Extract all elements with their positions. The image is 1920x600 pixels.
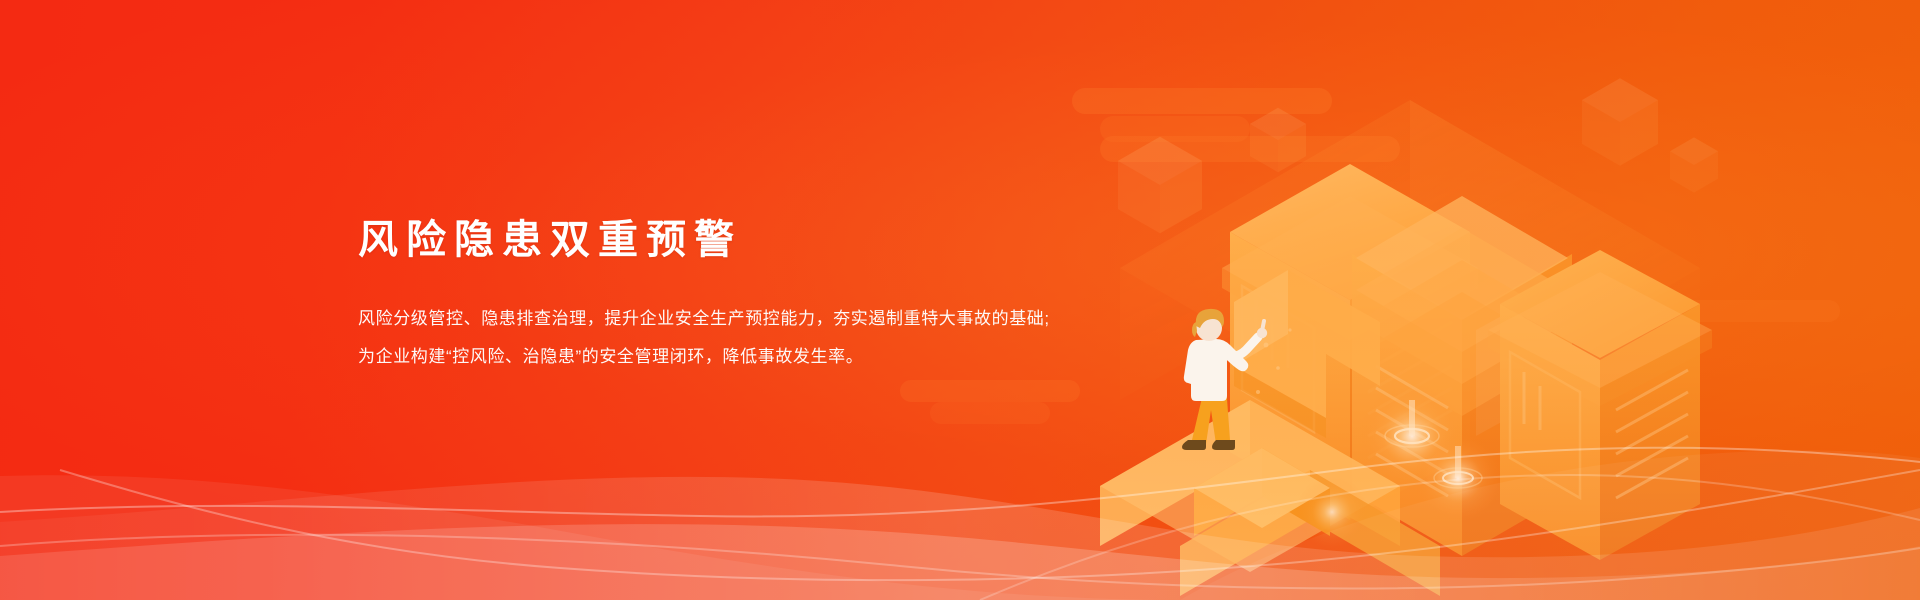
banner-text-block: 风险隐患双重预警 风险分级管控、隐患排查治理，提升企业安全生产预控能力，夯实遏制… [358, 216, 1050, 376]
hero-banner: 风险隐患双重预警 风险分级管控、隐患排查治理，提升企业安全生产预控能力，夯实遏制… [0, 0, 1920, 600]
subtitle-line-2: 为企业构建“控风险、治隐患”的安全管理闭环，降低事故发生率。 [358, 338, 1050, 376]
wave-ribbon-4 [1180, 450, 1920, 600]
banner-subtitle: 风险分级管控、隐患排查治理，提升企业安全生产预控能力，夯实遏制重特大事故的基础;… [358, 300, 1050, 376]
page-title: 风险隐患双重预警 [358, 216, 1050, 264]
subtitle-line-1: 风险分级管控、隐患排查治理，提升企业安全生产预控能力，夯实遏制重特大事故的基础; [358, 300, 1050, 338]
